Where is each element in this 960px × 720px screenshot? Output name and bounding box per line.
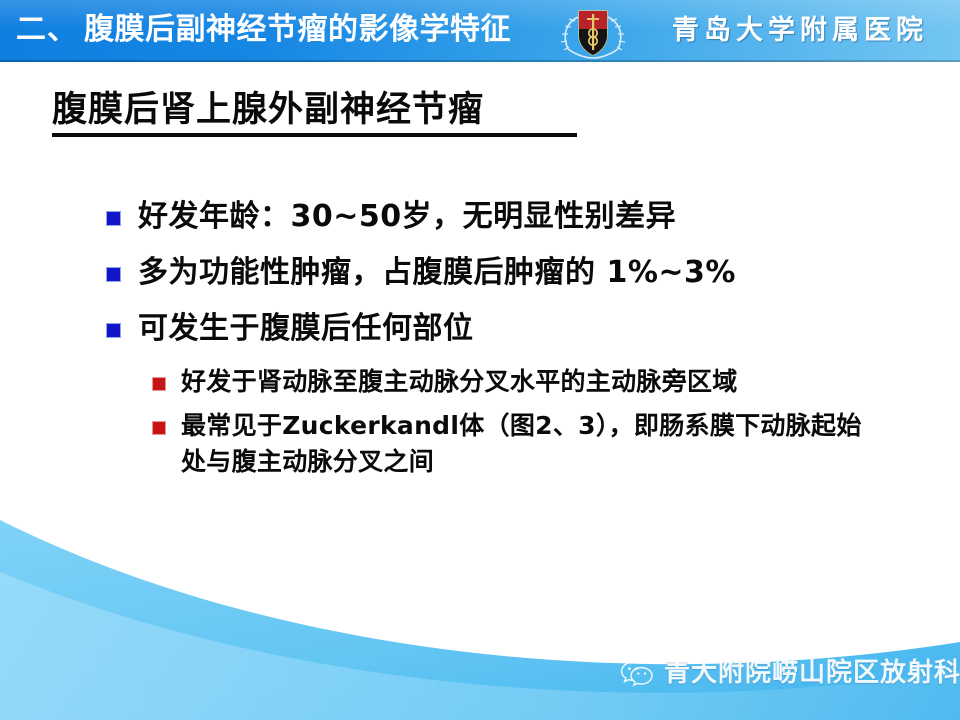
sub-list-item: 最常见于Zuckerkandl体（图2、3），即肠系膜下动脉起始处与腹主动脉分叉… (0, 408, 960, 480)
list-item-label: 可发生于腹膜后任何部位 (138, 308, 474, 350)
section-number: 二、 (16, 10, 78, 50)
list-item-label: 好发年龄：30~50岁，无明显性别差异 (138, 196, 676, 238)
slide-header-banner: 二、 腹膜后副神经节瘤的影像学特征 (0, 0, 960, 62)
blue-square-bullet-icon (106, 211, 121, 226)
list-item: 好发年龄：30~50岁，无明显性别差异 (0, 196, 960, 238)
list-item-label: 多为功能性肿瘤，占腹膜后肿瘤的 1%~3% (138, 252, 736, 294)
list-item: 可发生于腹膜后任何部位 (0, 308, 960, 350)
footer-watermark-text: 青大附院崂山院区放射科 (664, 658, 960, 688)
footer-watermark: 青大附院崂山院区放射科 (620, 658, 960, 688)
sub-list-item-label: 最常见于Zuckerkandl体（图2、3），即肠系膜下动脉起始处与腹主动脉分叉… (181, 408, 871, 480)
red-square-bullet-icon (152, 377, 166, 391)
sub-list-item-label: 好发于肾动脉至腹主动脉分叉水平的主动脉旁区域 (181, 364, 738, 400)
presentation-slide: 二、 腹膜后副神经节瘤的影像学特征 (0, 0, 960, 720)
page-title: 腹膜后肾上腺外副神经节瘤 (52, 88, 484, 132)
red-square-bullet-icon (152, 421, 166, 435)
wechat-logo-icon (620, 659, 654, 687)
sub-list-item: 好发于肾动脉至腹主动脉分叉水平的主动脉旁区域 (0, 364, 960, 400)
blue-square-bullet-icon (106, 323, 121, 338)
section-title: 腹膜后副神经节瘤的影像学特征 (84, 10, 511, 50)
list-item: 多为功能性肿瘤，占腹膜后肿瘤的 1%~3% (0, 252, 960, 294)
blue-square-bullet-icon (106, 267, 121, 282)
hospital-name: 青岛大学附属医院 (672, 12, 928, 50)
slide-content-list: 好发年龄：30~50岁，无明显性别差异 多为功能性肿瘤，占腹膜后肿瘤的 1%~3… (0, 196, 960, 488)
hospital-shield-emblem-icon (556, 3, 630, 61)
bottom-wave-decoration (0, 520, 960, 720)
page-title-underline (52, 133, 577, 137)
